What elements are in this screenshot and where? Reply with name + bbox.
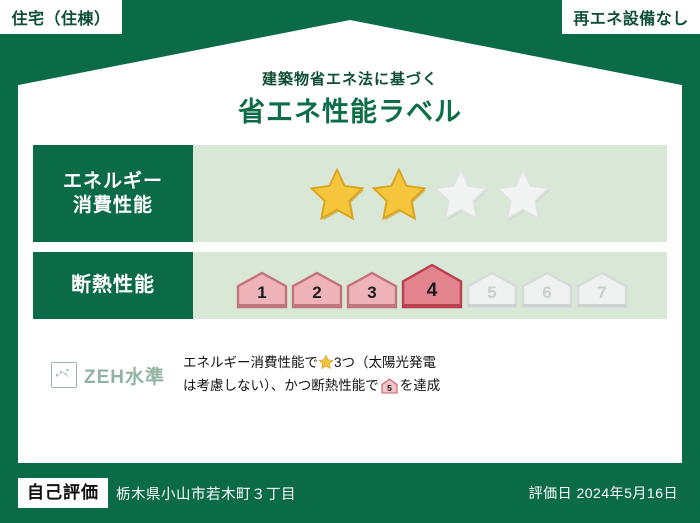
- star-empty-icon: [495, 166, 551, 222]
- zeh-house-icon: [51, 362, 77, 388]
- insulation-level-scale: 1234567: [232, 263, 628, 309]
- label-panel: 建築物省エネ法に基づく 省エネ性能ラベル エネルギー 消費性能 断熱性能 123…: [18, 20, 682, 463]
- row-insulation-body: 1234567: [193, 252, 667, 319]
- evaluation-date: 評価日 2024年5月16日: [529, 483, 678, 503]
- zeh-desc-line2-a: は考慮しない）、かつ断熱性能で: [183, 378, 379, 393]
- tab-building-type-label: 住宅（住棟）: [11, 5, 110, 29]
- zeh-badge: ZEH水準: [33, 362, 183, 389]
- row-insulation-label-text: 断熱性能: [71, 273, 155, 298]
- house-level-icon: 5: [381, 378, 398, 394]
- insulation-level-4: 4: [401, 263, 463, 309]
- insulation-level-3: 3: [346, 271, 398, 309]
- row-energy-performance: エネルギー 消費性能: [33, 145, 667, 245]
- insulation-level-7: 7: [576, 271, 628, 309]
- row-energy-label-line2: 消費性能: [73, 194, 153, 218]
- zeh-badge-label: ZEH水準: [84, 362, 165, 389]
- evaluation-date-value: 2024年5月16日: [576, 485, 678, 501]
- insulation-level-6: 6: [521, 271, 573, 309]
- row-energy-label-line1: エネルギー: [63, 170, 163, 194]
- evaluation-date-label: 評価日: [529, 485, 573, 501]
- label-subtitle: 建築物省エネ法に基づく: [18, 68, 682, 89]
- star-filled-icon: [309, 166, 365, 222]
- page-title: 省エネ性能ラベル: [18, 90, 682, 129]
- tab-renewable-energy[interactable]: 再エネ設備なし: [560, 0, 700, 36]
- tab-renewable-energy-label: 再エネ設備なし: [573, 5, 689, 29]
- row-insulation-performance: 断熱性能 1234567: [33, 252, 667, 322]
- zeh-desc-line2-b: を達成: [400, 378, 441, 393]
- insulation-level-2: 2: [291, 271, 343, 309]
- zeh-desc-line1-a: エネルギー消費性能で: [183, 355, 318, 370]
- evaluation-type-badge: 自己評価: [18, 478, 108, 508]
- tab-building-type[interactable]: 住宅（住棟）: [0, 0, 124, 36]
- insulation-level-5: 5: [466, 271, 518, 309]
- house-level-icon-number: 5: [387, 383, 392, 393]
- star-rating: [309, 166, 551, 222]
- zeh-description: エネルギー消費性能で3つ（太陽光発電 は考慮しない）、かつ断熱性能で5を達成: [183, 352, 667, 398]
- zeh-standard-row: ZEH水準 エネルギー消費性能で3つ（太陽光発電 は考慮しない）、かつ断熱性能で…: [33, 340, 667, 410]
- star-empty-icon: [433, 166, 489, 222]
- star-icon: [318, 354, 334, 370]
- property-address: 栃木県小山市若木町３丁目: [116, 483, 296, 504]
- insulation-level-1: 1: [236, 271, 288, 309]
- zeh-desc-line1-b: 3つ（太陽光発電: [334, 355, 436, 370]
- star-filled-icon: [371, 166, 427, 222]
- row-energy-body: [193, 145, 667, 242]
- row-energy-label: エネルギー 消費性能: [33, 145, 193, 242]
- label-panel-inner: 建築物省エネ法に基づく 省エネ性能ラベル エネルギー 消費性能 断熱性能 123…: [18, 20, 682, 463]
- label-footer: 自己評価 栃木県小山市若木町３丁目 評価日 2024年5月16日: [0, 463, 700, 523]
- row-insulation-label: 断熱性能: [33, 252, 193, 319]
- energy-performance-label: 住宅（住棟） 再エネ設備なし 建築物省エネ法に基づく 省エネ性能ラベル エネルギ…: [0, 0, 700, 523]
